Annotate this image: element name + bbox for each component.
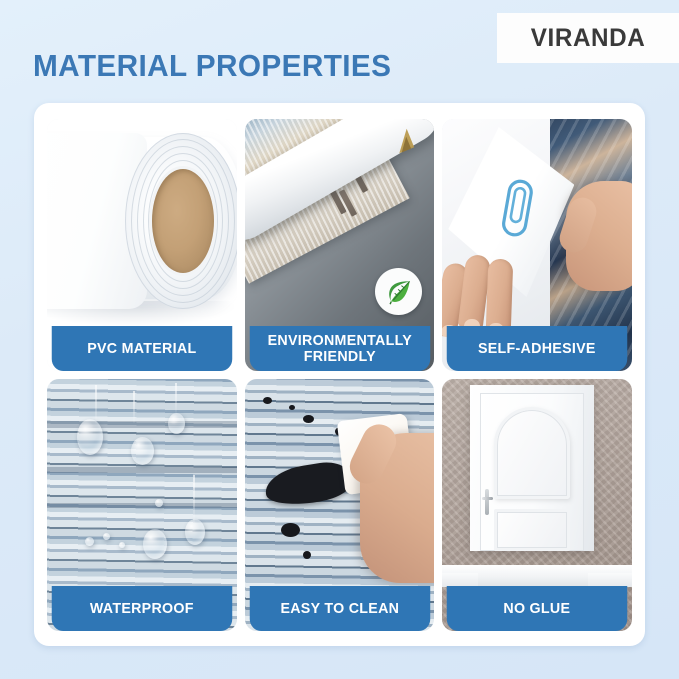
- water-droplet: [85, 537, 94, 546]
- feature-label: ENVIRONMENTALLY FRIENDLY: [249, 326, 429, 371]
- hand-left: [442, 245, 534, 331]
- feature-label: EASY TO CLEAN: [249, 586, 429, 631]
- feature-tile-environmentally-friendly[interactable]: ENVIRONMENTALLY FRIENDLY: [245, 119, 435, 371]
- feature-grid: PVC MATERIAL: [47, 119, 632, 631]
- brand-logo: VIRANDA: [497, 13, 679, 63]
- header: MATERIAL PROPERTIES VIRANDA: [0, 0, 679, 103]
- grain-band: [47, 421, 237, 428]
- roll-core: [152, 169, 214, 273]
- feature-label: PVC MATERIAL: [52, 326, 232, 371]
- door-panel-lower: [494, 509, 570, 551]
- water-droplet: [143, 529, 167, 559]
- feature-tile-waterproof[interactable]: WATERPROOF: [47, 379, 237, 631]
- water-droplet: [185, 519, 205, 545]
- finger: [486, 259, 514, 334]
- feature-tile-easy-to-clean[interactable]: EASY TO CLEAN: [245, 379, 435, 631]
- water-droplet: [168, 413, 185, 434]
- droplet-trail: [95, 385, 97, 423]
- feature-label: SELF-ADHESIVE: [447, 326, 627, 371]
- feature-card: PVC MATERIAL: [34, 103, 645, 646]
- door-panel-arched: [494, 407, 570, 499]
- stain-spot: [263, 397, 272, 404]
- feature-tile-no-glue[interactable]: NO GLUE: [442, 379, 632, 631]
- stain-spot: [303, 415, 314, 423]
- stain-smear: [262, 458, 355, 509]
- handle-plate: [485, 489, 489, 515]
- stain-spot: [281, 523, 300, 537]
- stain-spot: [289, 405, 295, 410]
- droplet-trail: [133, 391, 135, 423]
- water-droplet: [155, 499, 163, 507]
- feature-label: WATERPROOF: [52, 586, 232, 631]
- water-droplet: [103, 533, 110, 540]
- door-leaf: [480, 393, 584, 551]
- droplet-trail: [193, 475, 195, 523]
- door-handle: [482, 489, 492, 515]
- feature-tile-pvc-material[interactable]: PVC MATERIAL: [47, 119, 237, 371]
- water-droplet: [131, 437, 154, 465]
- eco-badge: [375, 268, 422, 315]
- stain-spot: [303, 551, 311, 559]
- baseboard-left: [442, 573, 478, 587]
- page-title: MATERIAL PROPERTIES: [33, 48, 391, 84]
- water-droplet: [119, 542, 125, 548]
- feature-label: NO GLUE: [447, 586, 627, 631]
- handle-lever: [482, 497, 493, 500]
- water-droplet: [77, 419, 103, 455]
- baseboard-right: [588, 573, 632, 587]
- droplet-trail: [175, 383, 177, 413]
- feature-tile-self-adhesive[interactable]: SELF-ADHESIVE: [442, 119, 632, 371]
- grain-band: [47, 467, 237, 473]
- grain-band: [47, 503, 237, 508]
- leaf-icon: [383, 276, 415, 308]
- brand-name: VIRANDA: [531, 24, 646, 53]
